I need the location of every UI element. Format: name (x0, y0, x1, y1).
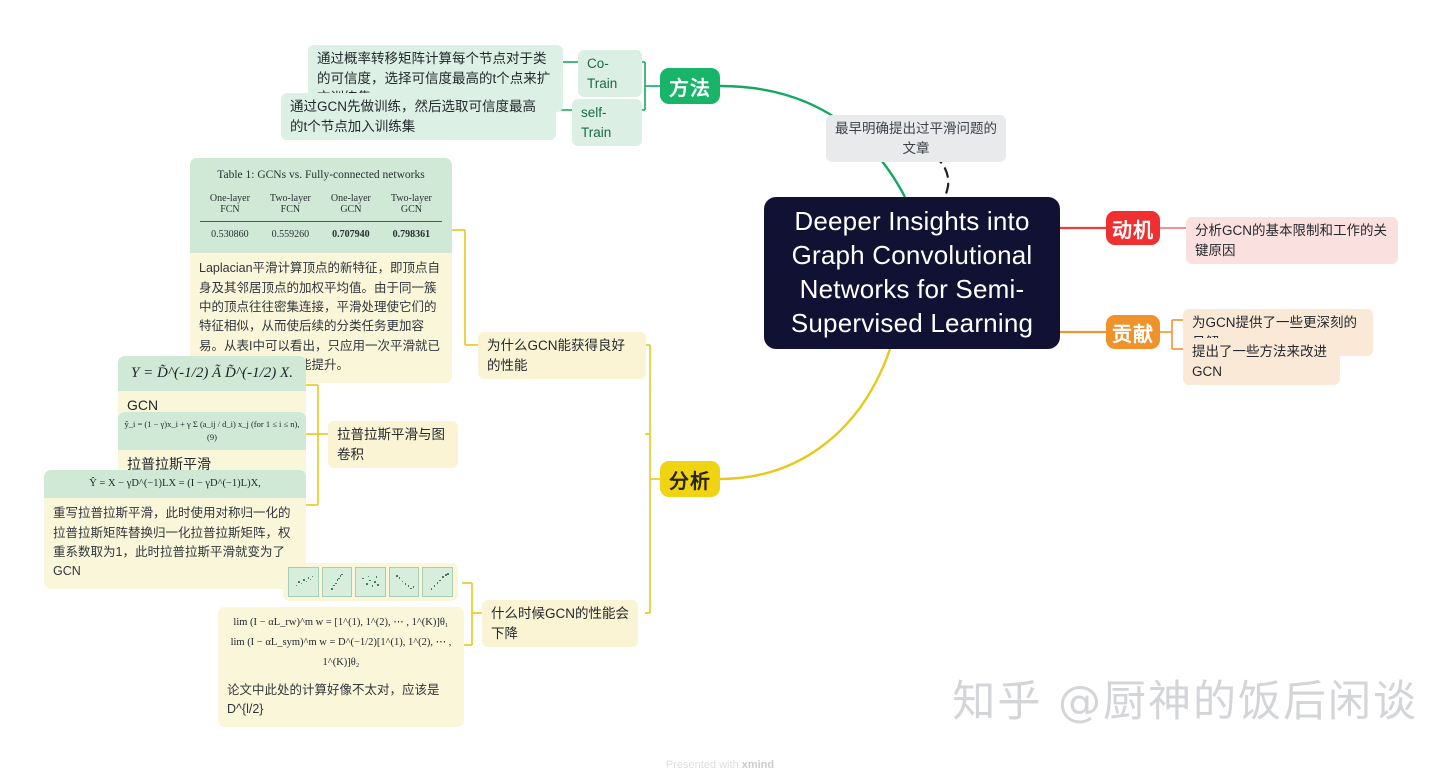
central-topic-title: Deeper Insights into Graph Convolutional… (780, 205, 1044, 340)
subtopic-self-train[interactable]: self-Train (572, 99, 642, 146)
note-self-train[interactable]: 通过GCN先做训练，然后选取可信度最高的t个节点加入训练集 (281, 93, 556, 140)
laplacian-formula-text: ŷ_i = (1 − γ)x_i + γ Σ (a_ij / d_i) x_j … (125, 419, 300, 442)
table-col-2-line2: GCN (340, 204, 361, 215)
subtopic-why-gcn-works-label: 为什么GCN能获得良好的性能 (487, 338, 625, 373)
table-value-0: 0.530860 (200, 221, 260, 243)
note-limit-text: 论文中此处的计算好像不太对，应该是D^{l/2} (218, 675, 464, 727)
laplacian-formula-image: ŷ_i = (1 − γ)x_i + γ Σ (a_ij / d_i) x_j … (118, 412, 306, 450)
scatter-panel-2 (322, 567, 353, 597)
branch-method-label: 方法 (669, 72, 711, 101)
branch-contribution-label: 贡献 (1112, 318, 1154, 347)
gcn-comparison-table: One-layer FCN Two-layer FCN One-layer GC… (200, 193, 442, 244)
note-motivation-1-text: 分析GCN的基本限制和工作的关键原因 (1195, 223, 1387, 258)
table-value-row: 0.530860 0.559260 0.707940 0.798361 (200, 221, 442, 243)
subtopic-when-gcn-degrades-label: 什么时候GCN的性能会下降 (491, 606, 629, 641)
footer-brand: xmind (742, 759, 774, 771)
table-col-0-line1: One-layer (210, 193, 250, 204)
table-value-3: 0.798361 (381, 221, 442, 243)
table-col-1-line1: Two-layer (270, 193, 311, 204)
table-col-1-line2: FCN (281, 204, 300, 215)
table-value-2: 0.707940 (321, 221, 381, 243)
subtopic-self-train-label: self-Train (581, 105, 611, 140)
note-rewrite-laplacian[interactable]: Ŷ = X − γD^(−1)LX = (I − γD^(−1)L)X, 重写拉… (44, 470, 306, 589)
subtopic-co-train[interactable]: Co-Train (578, 50, 642, 97)
watermark-text: 知乎 @厨神的饭后闲谈 (952, 677, 1418, 727)
subtopic-why-gcn-works[interactable]: 为什么GCN能获得良好的性能 (478, 332, 646, 379)
subtopic-laplacian-smoothing-label: 拉普拉斯平滑与图卷积 (337, 427, 445, 462)
branch-contribution[interactable]: 贡献 (1106, 315, 1160, 349)
table-value-1: 0.559260 (260, 221, 321, 243)
footer-prefix: Presented with (666, 759, 742, 771)
watermark: 知乎 @厨神的饭后闲谈 (952, 667, 1418, 729)
limit-formula-line1: lim (I − αL_rw)^m w = [1^(1), 1^(2), ⋯ ,… (233, 617, 448, 628)
note-self-train-text: 通过GCN先做训练，然后选取可信度最高的t个节点加入训练集 (290, 99, 536, 134)
central-topic[interactable]: Deeper Insights into Graph Convolutional… (764, 197, 1060, 349)
footer-credit: Presented with xmind (0, 759, 1440, 771)
subtopic-when-gcn-degrades[interactable]: 什么时候GCN的性能会下降 (482, 600, 638, 647)
note-contribution-2-text: 提出了一些方法来改进GCN (1192, 344, 1327, 379)
callout-label[interactable]: 最早明确提出过平滑问题的文章 (826, 115, 1006, 162)
note-rewrite-text: 重写拉普拉斯平滑，此时使用对称归一化的拉普拉斯矩阵替换归一化拉普拉斯矩阵，权重系… (44, 498, 306, 589)
subtopic-laplacian-smoothing[interactable]: 拉普拉斯平滑与图卷积 (328, 421, 458, 468)
rewrite-formula-text: Ŷ = X − γD^(−1)LX = (I − γD^(−1)L)X, (89, 478, 261, 489)
scatter-panel-3 (355, 567, 386, 597)
branch-motivation-label: 动机 (1112, 214, 1154, 243)
table-image: Table 1: GCNs vs. Fully-connected networ… (190, 158, 452, 253)
table-header-row: One-layer FCN Two-layer FCN One-layer GC… (200, 193, 442, 222)
table-col-2: One-layer GCN (321, 193, 381, 222)
scatter-panel-4 (389, 567, 420, 597)
branch-analysis-label: 分析 (669, 465, 711, 494)
table-col-0: One-layer FCN (200, 193, 260, 222)
callout-label-text: 最早明确提出过平滑问题的文章 (835, 121, 997, 156)
gcn-formula-image: Y = D̃^(-1/2) Ã D̃^(-1/2) X. (118, 356, 306, 391)
table-col-2-line1: One-layer (331, 193, 371, 204)
note-scatter-panels[interactable] (283, 563, 458, 601)
limit-formula-line2: lim (I − αL_sym)^m w = D^(−1/2)[1^(1), 1… (231, 637, 452, 668)
branch-method[interactable]: 方法 (660, 68, 720, 104)
scatter-panel-image (283, 563, 458, 601)
note-limit-formulas[interactable]: lim (I − αL_rw)^m w = [1^(1), 1^(2), ⋯ ,… (218, 607, 464, 727)
note-motivation-1[interactable]: 分析GCN的基本限制和工作的关键原因 (1186, 217, 1398, 264)
branch-motivation[interactable]: 动机 (1106, 211, 1160, 245)
note-table-smoothing[interactable]: Table 1: GCNs vs. Fully-connected networ… (190, 158, 452, 383)
limit-formula-image: lim (I − αL_rw)^m w = [1^(1), 1^(2), ⋯ ,… (218, 607, 464, 675)
mindmap-canvas: Deeper Insights into Graph Convolutional… (0, 0, 1440, 784)
branch-analysis[interactable]: 分析 (660, 461, 720, 497)
table-col-3-line1: Two-layer (391, 193, 432, 204)
table-col-3: Two-layer GCN (381, 193, 442, 222)
table-col-1: Two-layer FCN (260, 193, 321, 222)
table-title: Table 1: GCNs vs. Fully-connected networ… (200, 167, 442, 185)
gcn-formula-text: Y = D̃^(-1/2) Ã D̃^(-1/2) X. (131, 365, 293, 381)
table-col-0-line2: FCN (220, 204, 239, 215)
subtopic-co-train-label: Co-Train (587, 56, 617, 91)
table-col-3-line2: GCN (401, 204, 422, 215)
rewrite-formula-image: Ŷ = X − γD^(−1)LX = (I − γD^(−1)L)X, (44, 470, 306, 498)
scatter-panel-5 (422, 567, 453, 597)
note-contribution-2[interactable]: 提出了一些方法来改进GCN (1183, 338, 1340, 385)
scatter-panel-1 (288, 567, 319, 597)
